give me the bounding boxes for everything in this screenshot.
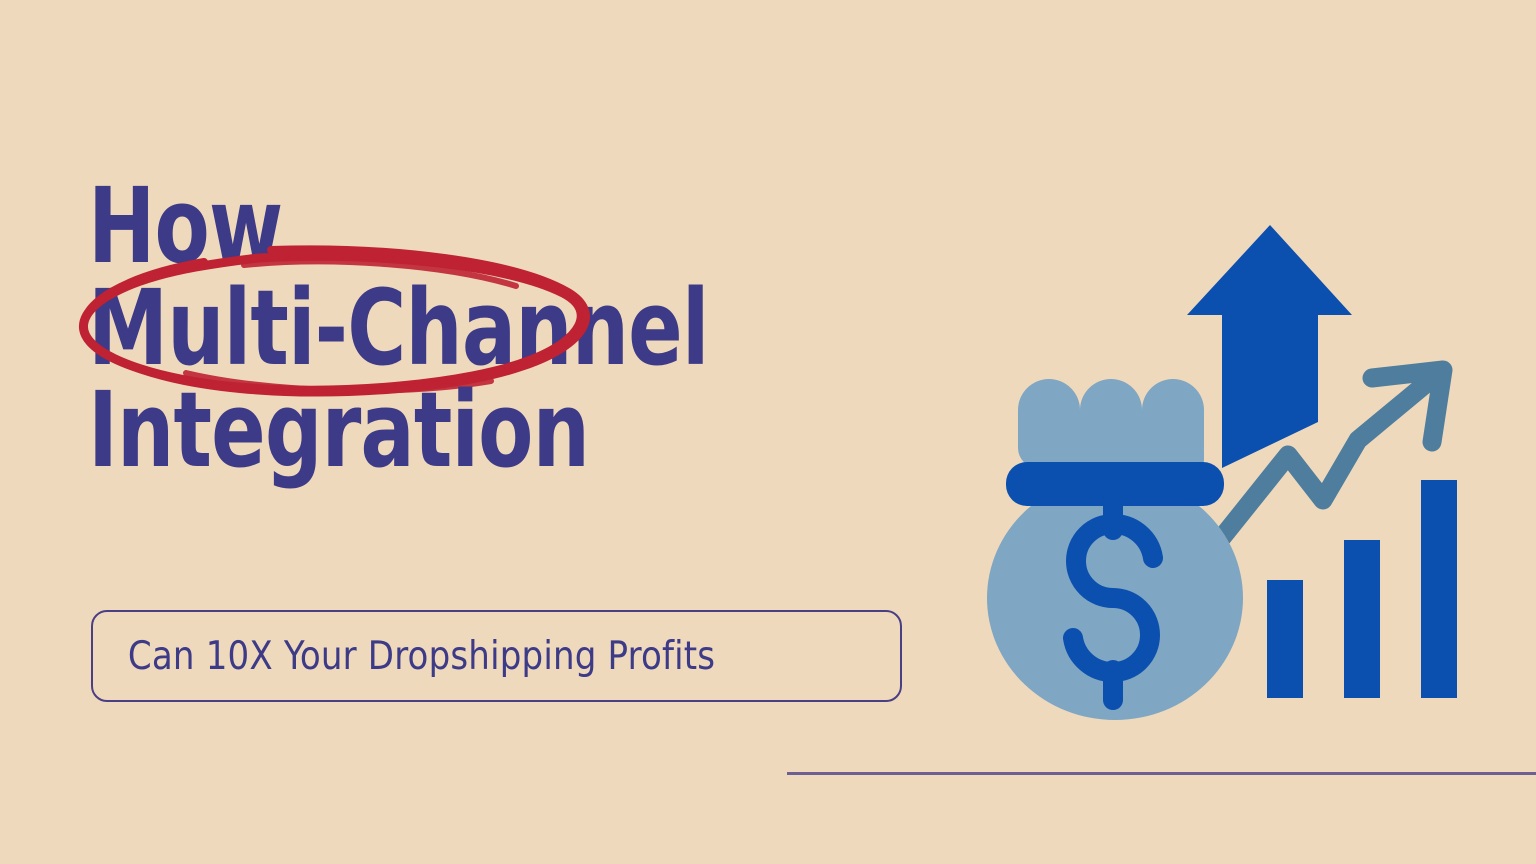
bar-3 [1421,480,1457,698]
headline-line-2: Multi-Channel [88,278,793,380]
headline-line-2-wrapper: Multi-Channel [88,278,908,380]
headline-line-1: How [88,176,793,278]
bar-1 [1267,580,1303,698]
slide-canvas: How Multi-Channel Integration Can 10X Yo… [0,0,1536,864]
up-arrow-icon [1187,225,1352,468]
money-bag-growth-illustration [940,180,1536,740]
bar-2 [1344,540,1380,698]
subtitle-box: Can 10X Your Dropshipping Profits [91,610,902,702]
subtitle-text: Can 10X Your Dropshipping Profits [93,634,715,679]
money-bag-icon [987,379,1243,720]
bottom-rule-divider [787,772,1536,775]
headline-line-3: Integration [88,380,793,482]
bar-chart-icon [1267,480,1457,698]
headline-block: How Multi-Channel Integration [88,176,908,482]
